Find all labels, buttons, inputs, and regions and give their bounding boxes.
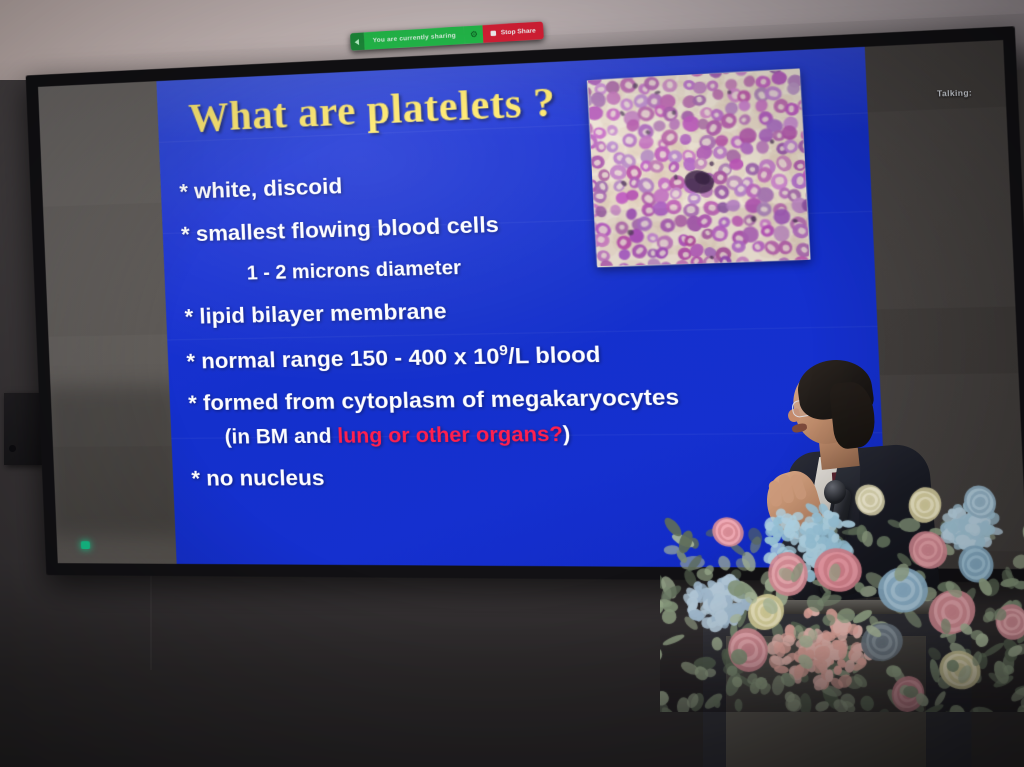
display-power-led <box>81 541 90 549</box>
bullet-text: 1 - 2 microns diameter <box>246 257 461 284</box>
bullet-item-1: * white, discoid <box>179 156 886 204</box>
bullet-text: normal range 150 - 400 x 10 <box>201 343 500 373</box>
gear-icon[interactable]: ⚙ <box>464 25 484 44</box>
stop-share-label: Stop Share <box>501 28 536 36</box>
bullet-text: white, discoid <box>194 174 343 204</box>
bullet-text-after: /L blood <box>507 341 601 368</box>
lecture-hall-scene: What are platelets ? * white, discoid * … <box>0 0 1024 767</box>
bullet-marker: * <box>184 304 194 329</box>
paren-text-post: ) <box>562 423 570 446</box>
bullet-text: lipid bilayer membrane <box>199 299 447 329</box>
bullet-marker: * <box>181 222 191 247</box>
paren-text-highlight: lung or other organs? <box>337 423 563 448</box>
stop-square-icon <box>491 31 497 37</box>
bullet-marker: * <box>186 349 196 374</box>
bullet-item-4: * lipid bilayer membrane <box>184 290 888 328</box>
wall-speaker <box>4 393 42 465</box>
share-arrow-icon[interactable] <box>350 32 365 50</box>
letterbox-band <box>38 81 163 207</box>
bullet-text: no nucleus <box>206 465 325 490</box>
bullet-item-3-sub: 1 - 2 microns diameter <box>183 247 889 286</box>
paren-text-pre: (in BM and <box>224 425 338 449</box>
bullet-item-2: * smallest flowing blood cells <box>181 201 889 246</box>
bullet-marker: * <box>191 466 201 490</box>
floral-arrangement <box>660 482 1024 712</box>
talking-indicator: Talking: <box>937 88 972 99</box>
bullet-text: formed from cytoplasm of megakaryocytes <box>203 385 680 416</box>
letterbox-shade <box>41 385 188 538</box>
stop-share-button[interactable]: Stop Share <box>483 21 544 43</box>
bullet-marker: * <box>188 391 198 416</box>
bullet-text: smallest flowing blood cells <box>195 211 499 245</box>
letterbox-band <box>868 105 1024 309</box>
bullet-marker: * <box>179 179 189 204</box>
